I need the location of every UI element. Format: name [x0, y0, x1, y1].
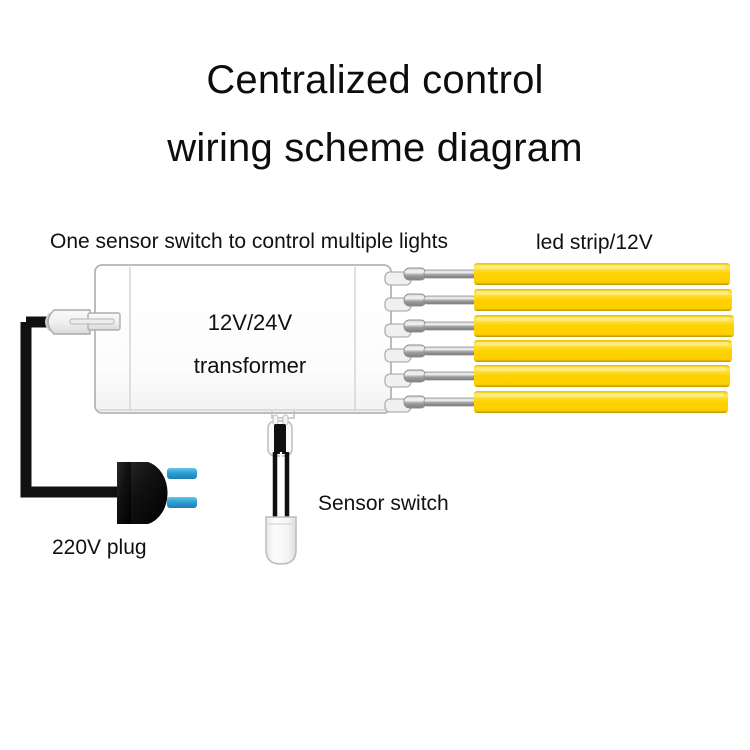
- led-strip-assembly: [404, 289, 732, 311]
- strip-lead: [404, 294, 476, 306]
- transformer-unit: [95, 265, 391, 418]
- plug-pin: [167, 497, 197, 508]
- led-strip-assembly: [404, 315, 734, 337]
- led-strip-assembly: [404, 263, 730, 285]
- label-220v-plug: 220V plug: [52, 536, 147, 560]
- label-sensor-switch: Sensor switch: [318, 492, 449, 516]
- label-one-sensor-multiple-lights: One sensor switch to control multiple li…: [50, 230, 448, 254]
- led-strip-assembly: [404, 365, 730, 387]
- dc-barrel-connector: [45, 310, 120, 334]
- transformer-name-label: transformer: [170, 353, 330, 379]
- plug-pin: [167, 468, 197, 479]
- led-strip-assembly: [404, 340, 732, 362]
- strip-lead: [404, 396, 476, 408]
- wiring-diagram-graphic: [0, 0, 750, 750]
- label-led-strip: led strip/12V: [536, 231, 653, 255]
- led-strip-assembly: [404, 391, 728, 413]
- strip-lead: [404, 370, 476, 382]
- strip-lead: [404, 268, 476, 280]
- sensor-plug-contact: [274, 424, 286, 454]
- strip-lead: [404, 345, 476, 357]
- transformer-voltage-label: 12V/24V: [170, 310, 330, 336]
- plug-220v: [117, 462, 197, 524]
- sensor-switch: [266, 415, 296, 564]
- strip-lead: [404, 320, 476, 332]
- transformer-case: [95, 265, 391, 413]
- diagram-canvas: Centralized control wiring scheme diagra…: [0, 0, 750, 750]
